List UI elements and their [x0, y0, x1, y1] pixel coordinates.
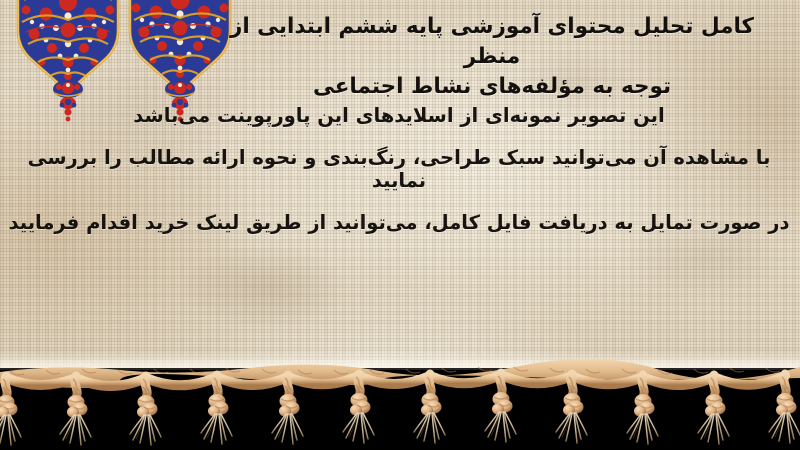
body-line-3: در صورت تمایل به دریافت فایل کامل، می‌تو… — [6, 211, 792, 234]
slide-title: کامل تحلیل محتوای آموزشی پایه ششم ابتدای… — [212, 12, 772, 102]
body-line-2: با مشاهده آن می‌توانید سبک طراحی، رنگ‌بن… — [6, 146, 792, 192]
slide-title-line-1: کامل تحلیل محتوای آموزشی پایه ششم ابتدای… — [212, 12, 772, 72]
slide-title-line-2: توجه به مؤلفه‌های نشاط اجتماعی — [212, 72, 772, 102]
slide-body-text: این تصویر نمونه‌ای از اسلایدهای این پاور… — [6, 104, 792, 234]
slide-canvas: کامل تحلیل محتوای آموزشی پایه ششم ابتدای… — [0, 0, 800, 450]
rope-fringe-border — [0, 352, 800, 450]
body-line-1: این تصویر نمونه‌ای از اسلایدهای این پاور… — [6, 104, 792, 127]
